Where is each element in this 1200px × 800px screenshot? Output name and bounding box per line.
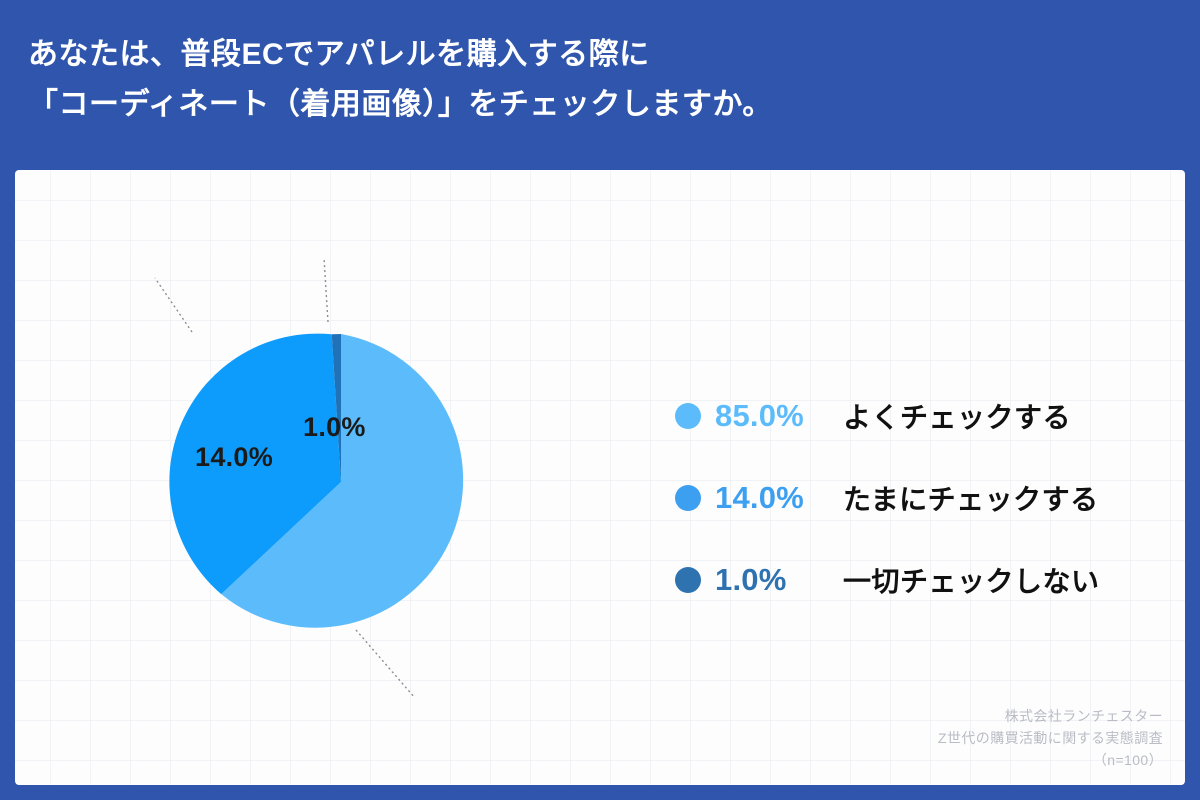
poster-root: あなたは、普段ECでアパレルを購入する際に 「コーディネート（着用画像）」をチェ… bbox=[0, 0, 1200, 800]
legend-percent: 1.0% bbox=[715, 562, 843, 598]
page-title-line-2: 「コーディネート（着用画像）」をチェックしますか。 bbox=[28, 80, 1200, 130]
leader-line-14 bbox=[155, 278, 192, 332]
legend-label: よくチェックする bbox=[843, 396, 1071, 436]
pie-label-1: 1.0% bbox=[303, 412, 366, 443]
legend-item-tamani-check[interactable]: 14.0% たまにチェックする bbox=[675, 457, 1175, 539]
legend-percent: 14.0% bbox=[715, 480, 843, 516]
source-attribution: 株式会社ランチェスター Z世代の購買活動に関する実態調査 （n=100） bbox=[938, 705, 1163, 771]
pie-chart-svg bbox=[40, 210, 640, 770]
chart-card: 85.0% 14.0% 1.0% 85.0% よくチェックする 14.0% たま… bbox=[15, 170, 1185, 785]
leader-line-1 bbox=[324, 258, 328, 322]
legend-dot-icon bbox=[675, 485, 701, 511]
source-sample-size: （n=100） bbox=[938, 749, 1163, 771]
legend-dot-icon bbox=[675, 403, 701, 429]
source-survey-name: Z世代の購買活動に関する実態調査 bbox=[938, 727, 1163, 749]
legend-label: 一切チェックしない bbox=[843, 560, 1100, 600]
source-company: 株式会社ランチェスター bbox=[938, 705, 1163, 727]
leader-line-85 bbox=[356, 630, 415, 698]
legend-item-issai-check-shinai[interactable]: 1.0% 一切チェックしない bbox=[675, 539, 1175, 621]
pie-label-14: 14.0% bbox=[195, 442, 273, 473]
pie-chart bbox=[40, 210, 640, 770]
legend-label: たまにチェックする bbox=[843, 478, 1099, 518]
legend-dot-icon bbox=[675, 567, 701, 593]
legend: 85.0% よくチェックする 14.0% たまにチェックする 1.0% 一切チェ… bbox=[675, 375, 1175, 621]
legend-item-yoku-check[interactable]: 85.0% よくチェックする bbox=[675, 375, 1175, 457]
page-title-line-1: あなたは、普段ECでアパレルを購入する際に bbox=[28, 30, 1200, 80]
header-band: あなたは、普段ECでアパレルを購入する際に 「コーディネート（着用画像）」をチェ… bbox=[0, 0, 1200, 170]
legend-percent: 85.0% bbox=[715, 398, 843, 434]
